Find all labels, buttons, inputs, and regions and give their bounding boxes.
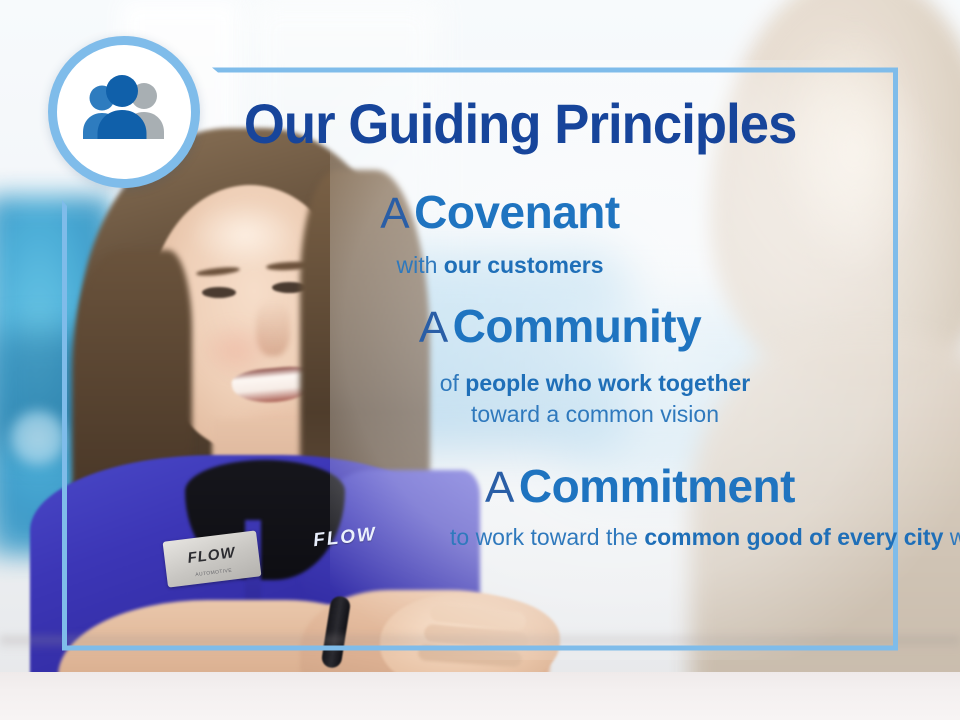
commitment-text-plain-1: to work toward the — [450, 524, 644, 550]
principle-article-community: A — [419, 303, 448, 352]
principle-article-covenant: A — [380, 189, 409, 238]
covenant-text-bold: our customers — [444, 252, 604, 278]
page-title: Our Guiding Principles — [210, 96, 830, 152]
principle-heading-covenant: A Covenant — [330, 188, 670, 237]
principle-body-commitment: to work toward the common good of every … — [450, 522, 890, 553]
principle-body-community: of people who work together toward a com… — [360, 368, 830, 430]
principle-heading-community: A Community — [370, 302, 750, 351]
community-text-bold: people who work together — [465, 370, 750, 396]
principle-keyword-commitment: Commitment — [519, 460, 795, 512]
poster-canvas: FLOW AUTOMOTIVE FLOW — [0, 0, 960, 720]
principle-article-commitment: A — [485, 463, 514, 512]
principle-keyword-community: Community — [453, 300, 702, 352]
community-text-plain-2: toward a common vision — [471, 401, 719, 427]
commitment-text-bold: common good of every city — [644, 524, 943, 550]
principle-keyword-covenant: Covenant — [414, 186, 620, 238]
copy-block: Our Guiding Principles A Covenant with o… — [0, 0, 960, 720]
principle-body-covenant: with our customers — [330, 250, 670, 281]
community-text-plain-1: of — [440, 370, 466, 396]
commitment-text-plain-2: where we do business — [943, 524, 960, 550]
principle-heading-commitment: A Commitment — [430, 462, 850, 511]
covenant-text-plain: with — [396, 252, 443, 278]
